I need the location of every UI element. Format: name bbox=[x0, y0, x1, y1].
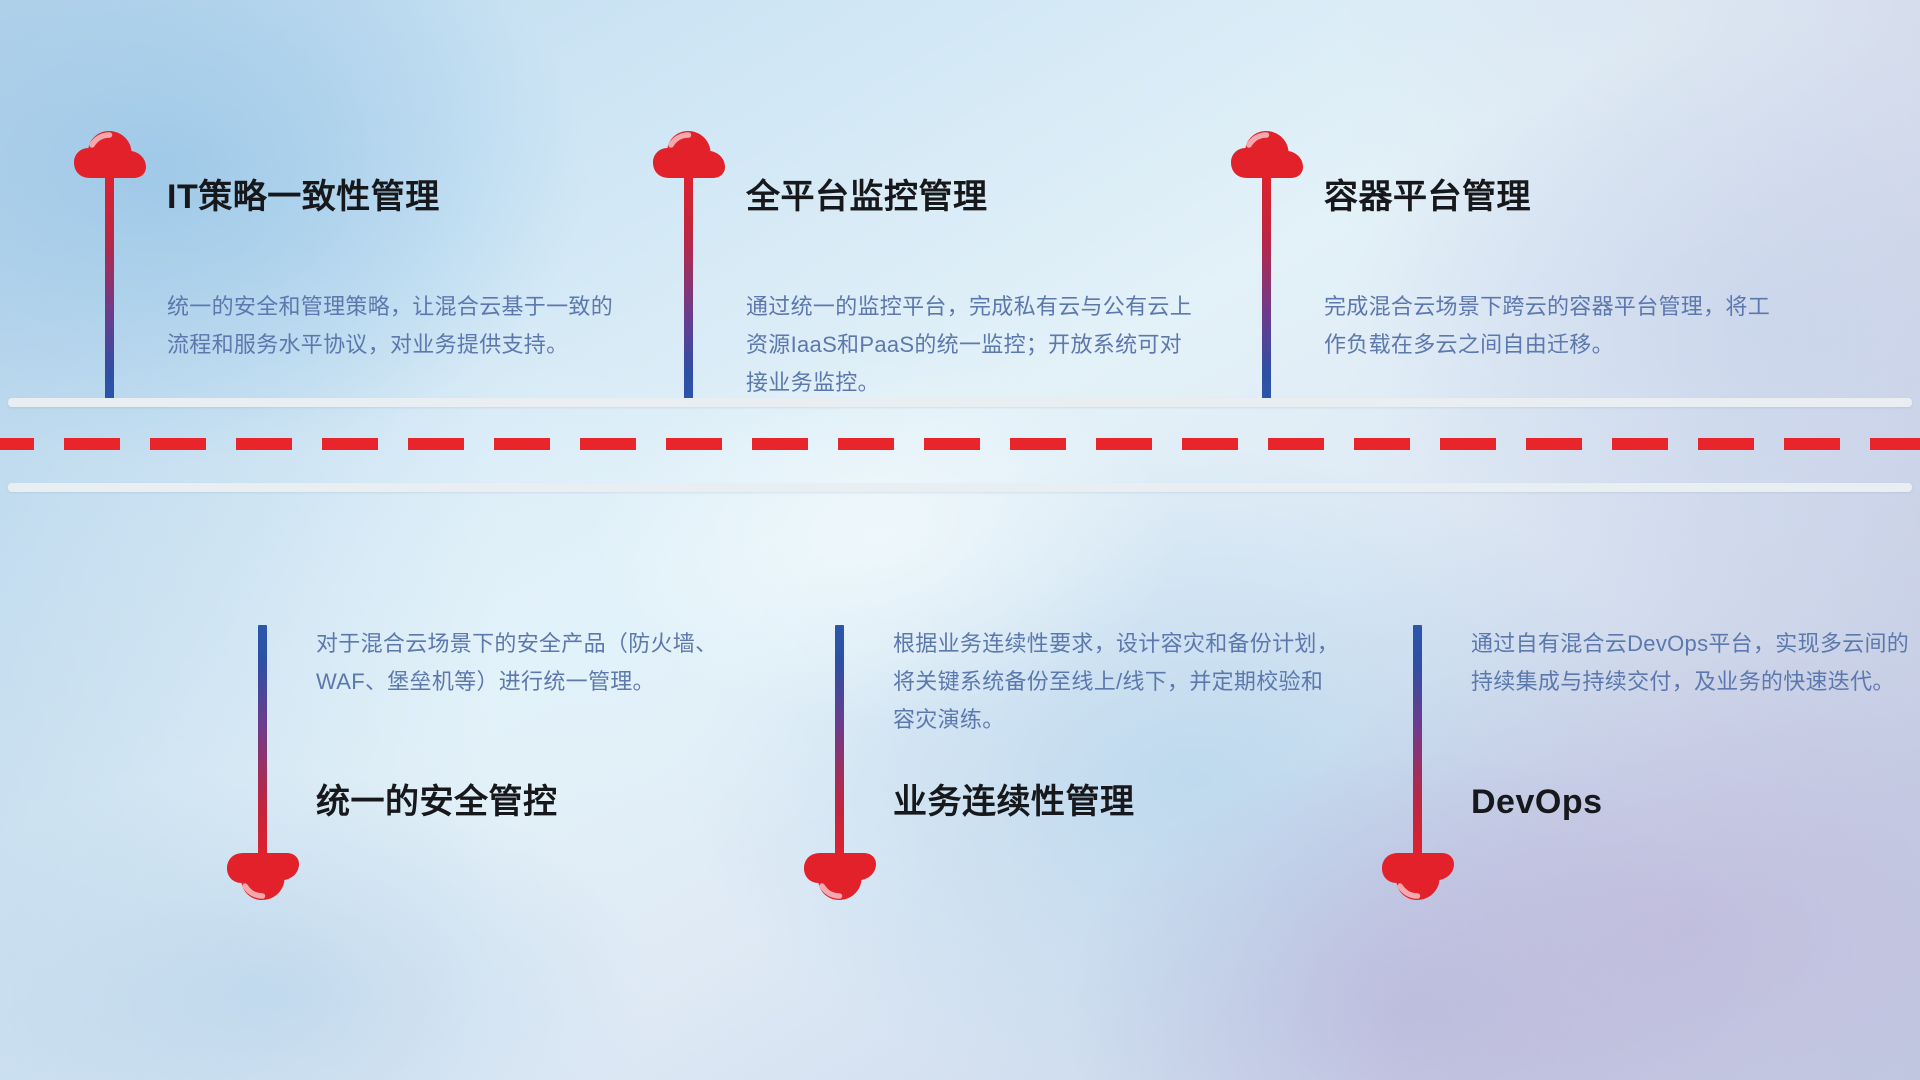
connector-line bbox=[1262, 166, 1271, 406]
connector-line bbox=[1413, 625, 1422, 861]
item-description: 通过统一的监控平台，完成私有云与公有云上资源IaaS和PaaS的统一监控；开放系… bbox=[746, 288, 1196, 402]
cloud-pin-icon bbox=[802, 847, 878, 903]
connector-line bbox=[835, 625, 844, 861]
hybrid-cloud-divider bbox=[0, 398, 1920, 492]
connector-line bbox=[684, 166, 693, 406]
item-description: 根据业务连续性要求，设计容灾和备份计划，将关键系统备份至线上/线下，并定期校验和… bbox=[893, 625, 1343, 739]
divider-dashed-line bbox=[0, 438, 1920, 450]
item-title: DevOps bbox=[1471, 785, 1603, 819]
cloud-pin-icon bbox=[225, 847, 301, 903]
cloud-pin-icon bbox=[1229, 128, 1305, 184]
cloud-pin-icon bbox=[651, 128, 727, 184]
item-title: 容器平台管理 bbox=[1324, 180, 1531, 214]
connector-line bbox=[258, 625, 267, 861]
cloud-pin-icon bbox=[1380, 847, 1456, 903]
item-description: 对于混合云场景下的安全产品（防火墙、WAF、堡垒机等）进行统一管理。 bbox=[316, 625, 766, 701]
background bbox=[0, 0, 1920, 1080]
item-title: 统一的安全管控 bbox=[316, 785, 558, 819]
cloud-pin-icon bbox=[72, 128, 148, 184]
item-title: IT策略一致性管理 bbox=[167, 180, 440, 214]
item-description: 统一的安全和管理策略，让混合云基于一致的流程和服务水平协议，对业务提供支持。 bbox=[167, 288, 617, 364]
divider-rule-bottom bbox=[8, 483, 1912, 492]
item-title: 全平台监控管理 bbox=[746, 180, 988, 214]
item-title: 业务连续性管理 bbox=[893, 785, 1135, 819]
item-description: 完成混合云场景下跨云的容器平台管理，将工作负载在多云之间自由迁移。 bbox=[1324, 288, 1774, 364]
divider-rule-top bbox=[8, 398, 1912, 407]
background-edge-shading bbox=[0, 0, 1920, 1080]
connector-line bbox=[105, 166, 114, 406]
item-description: 通过自有混合云DevOps平台，实现多云间的持续集成与持续交付，及业务的快速迭代… bbox=[1471, 625, 1920, 701]
